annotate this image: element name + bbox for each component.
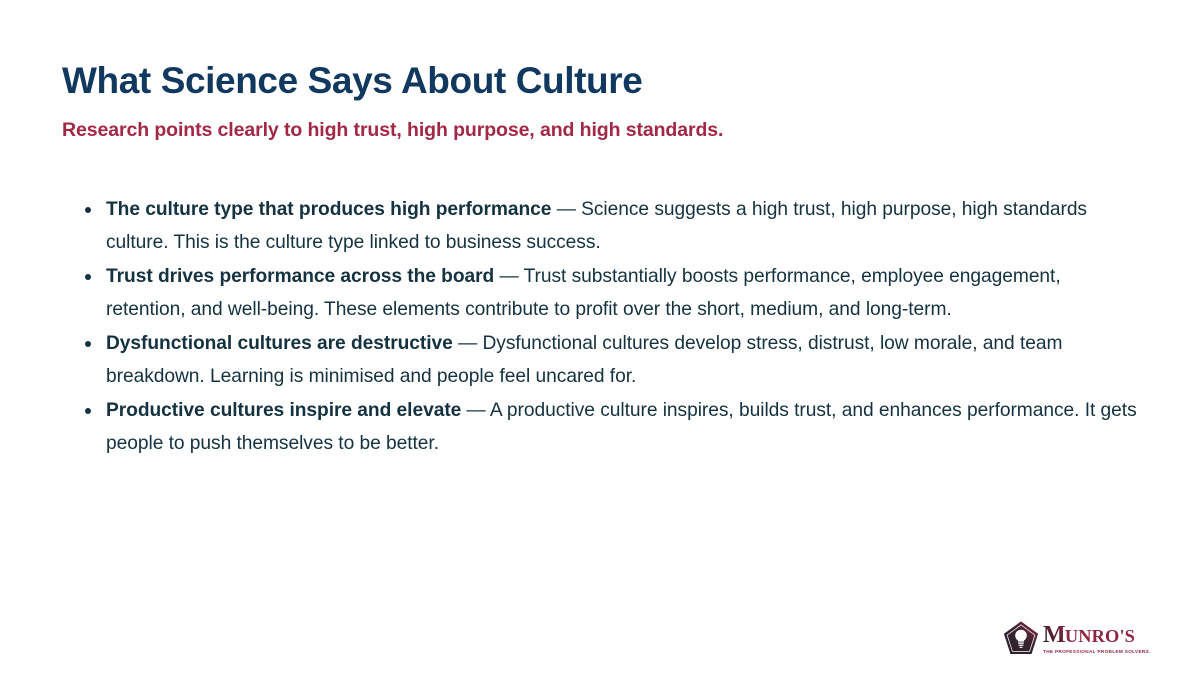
- list-item: Dysfunctional cultures are destructive —…: [82, 328, 1142, 393]
- list-item: Trust drives performance across the boar…: [82, 261, 1142, 326]
- logo-tagline: THE PROFESSIONAL PROBLEM SOLVERS.: [1043, 648, 1187, 655]
- brand-logo: M UNRO'S THE PROFESSIONAL PROBLEM SOLVER…: [1002, 617, 1152, 661]
- bullet-dot-icon: [85, 274, 91, 280]
- list-item-dash: —: [453, 333, 483, 354]
- bullet-dot-icon: [85, 341, 91, 347]
- logo-wordmark: M UNRO'S: [1043, 623, 1184, 647]
- slide-canvas: What Science Says About Culture Research…: [0, 0, 1200, 675]
- bullet-dot-icon: [85, 408, 91, 414]
- list-item-dash: —: [494, 266, 523, 287]
- page-subtitle: Research points clearly to high trust, h…: [62, 119, 1142, 142]
- heading-block: What Science Says About Culture Research…: [62, 60, 1142, 143]
- list-item-dash: —: [461, 400, 490, 421]
- logo-text-block: M UNRO'S THE PROFESSIONAL PROBLEM SOLVER…: [1043, 623, 1184, 655]
- bullet-list: The culture type that produces high perf…: [82, 194, 1142, 462]
- list-item: Productive cultures inspire and elevate …: [82, 395, 1142, 460]
- lightbulb-in-shield-icon: [1002, 620, 1040, 658]
- list-item: The culture type that produces high perf…: [82, 194, 1142, 259]
- list-item-lead: Dysfunctional cultures are destructive: [106, 333, 453, 354]
- svg-text:UNRO'S: UNRO'S: [1065, 626, 1135, 646]
- svg-text:M: M: [1043, 623, 1066, 647]
- list-item-lead: Productive cultures inspire and elevate: [106, 400, 461, 421]
- list-item-dash: —: [551, 199, 581, 220]
- bullet-dot-icon: [85, 207, 91, 213]
- list-item-lead: The culture type that produces high perf…: [106, 199, 551, 220]
- list-item-lead: Trust drives performance across the boar…: [106, 266, 494, 287]
- page-title: What Science Says About Culture: [62, 60, 1142, 101]
